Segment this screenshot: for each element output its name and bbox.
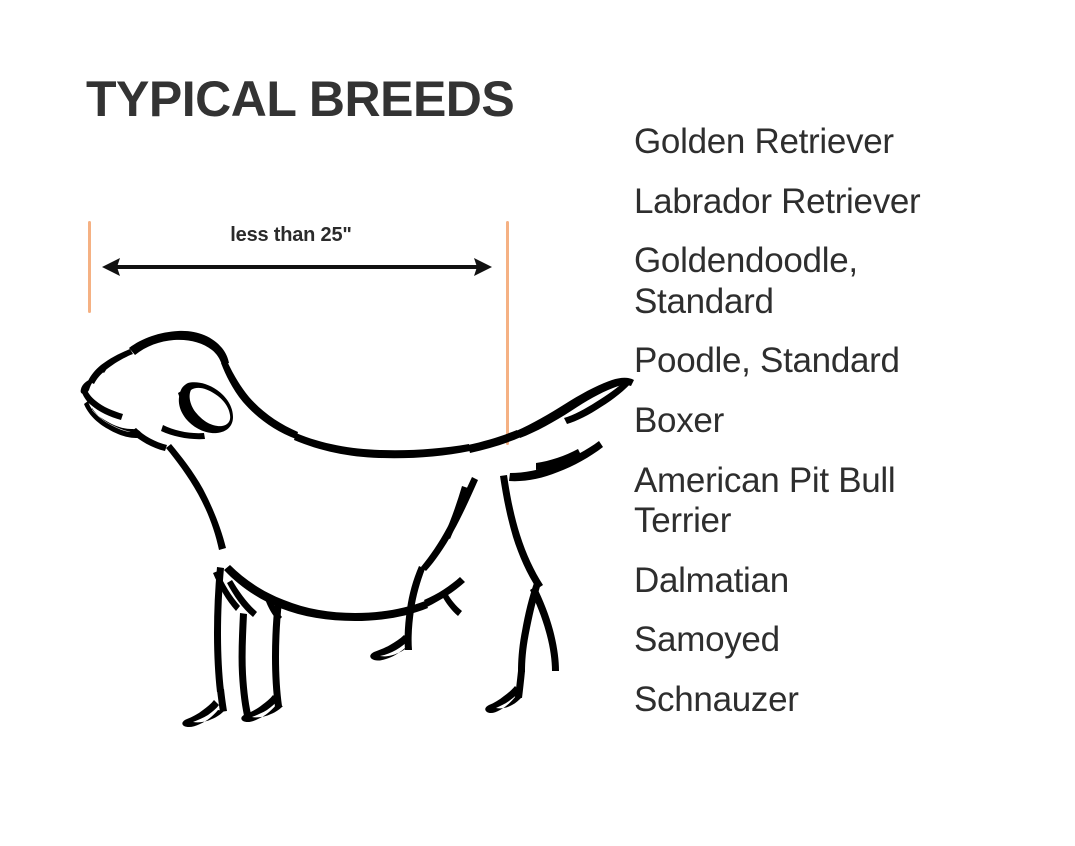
list-item: Boxer: [634, 401, 1034, 442]
measurement-label: less than 25": [88, 224, 494, 247]
list-item: Golden Retriever: [634, 122, 1034, 163]
measurement-guide-line-left: [88, 221, 91, 313]
list-item: Samoyed: [634, 620, 1034, 661]
dog-illustration: [70, 328, 645, 730]
page-title: TYPICAL BREEDS: [86, 72, 514, 126]
list-item: Poodle, Standard: [634, 341, 1034, 382]
list-item: American Pit Bull Terrier: [634, 461, 974, 542]
infographic-canvas: TYPICAL BREEDS less than 25": [0, 0, 1075, 846]
list-item: Dalmatian: [634, 561, 1034, 602]
breed-list: Golden Retriever Labrador Retriever Gold…: [634, 122, 1034, 740]
double-arrow-icon: [100, 252, 494, 282]
list-item: Labrador Retriever: [634, 182, 1034, 223]
list-item: Schnauzer: [634, 680, 1034, 721]
list-item: Goldendoodle, Standard: [634, 241, 974, 322]
